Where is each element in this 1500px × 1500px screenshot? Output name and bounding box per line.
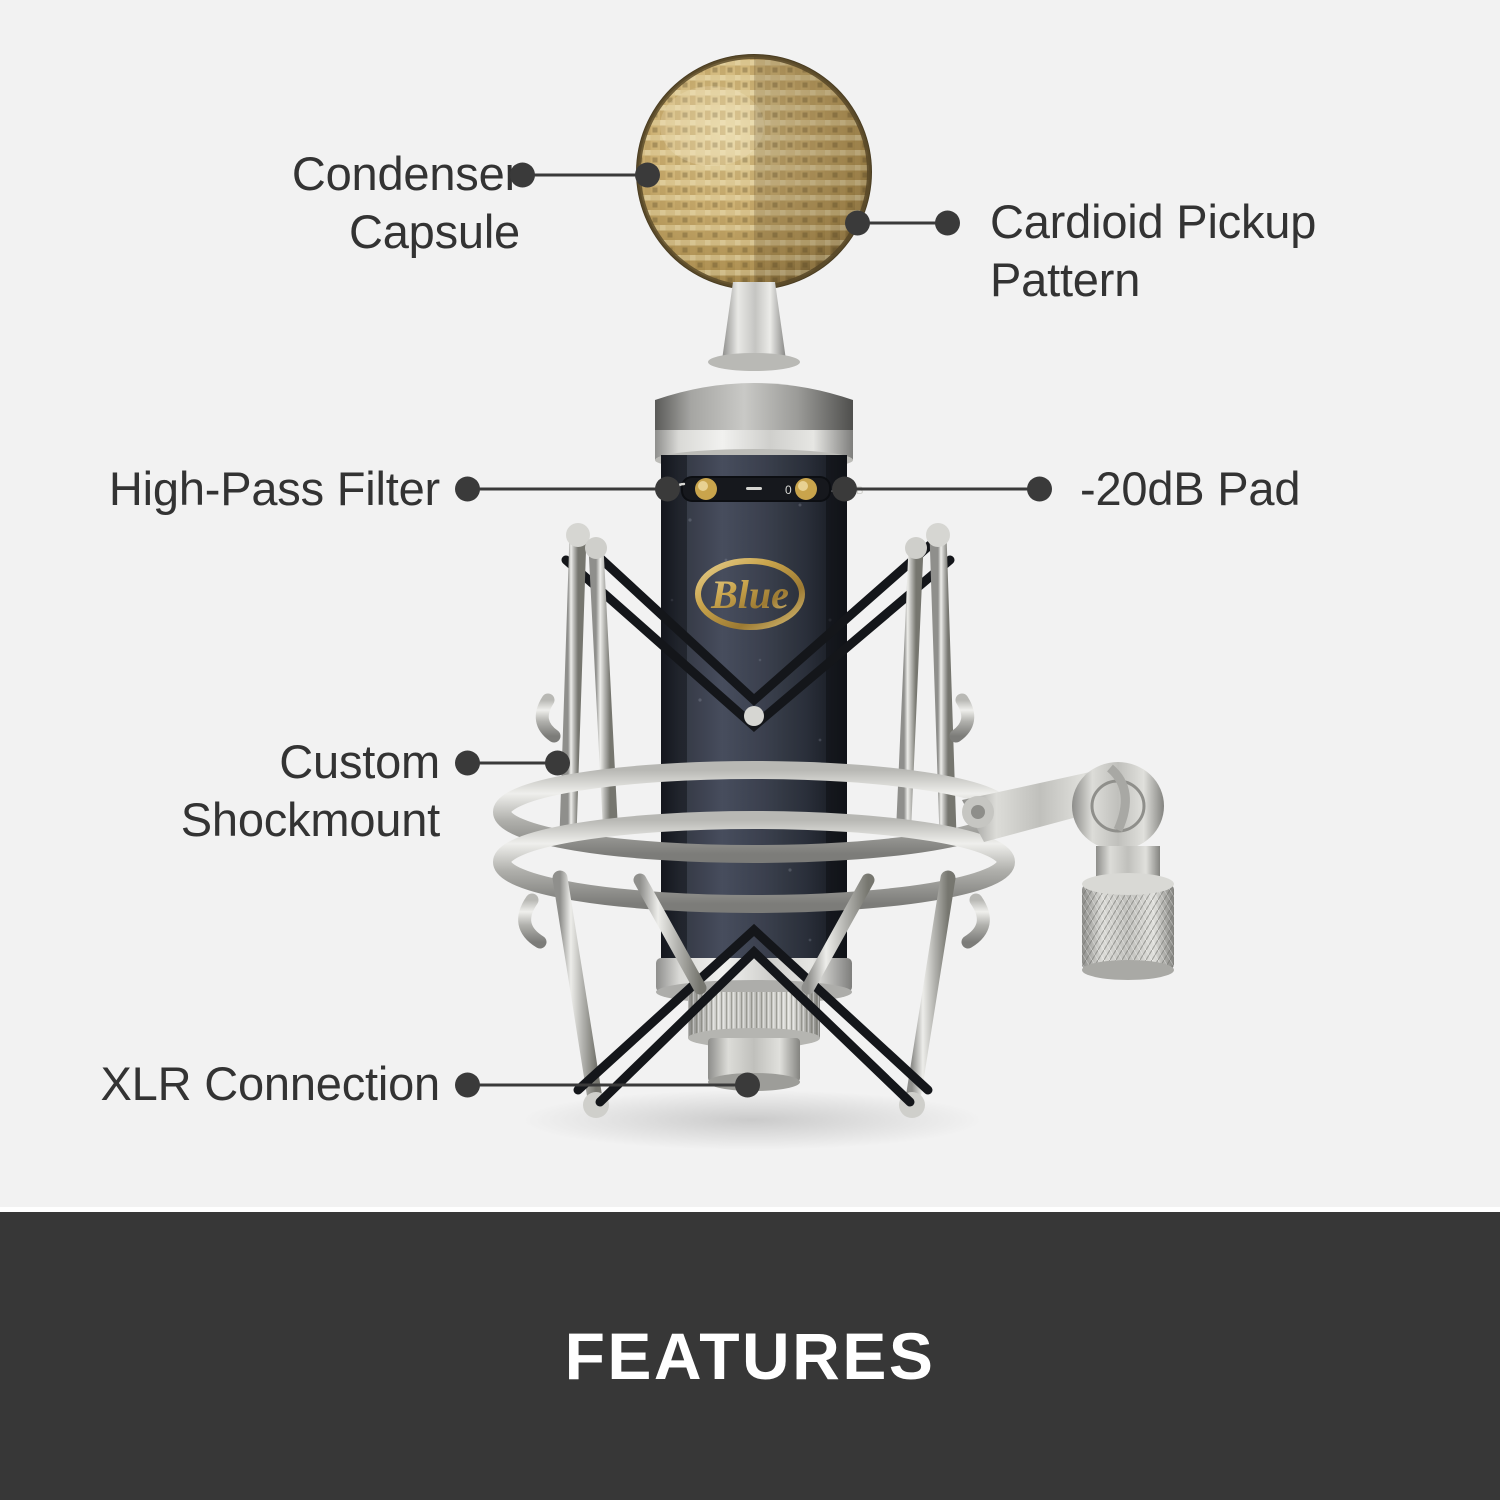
callout-line xyxy=(520,174,650,177)
callout-dot-label-end xyxy=(935,211,960,236)
mic-top-collar xyxy=(655,383,853,471)
blue-logo-badge: Blue xyxy=(698,561,802,627)
diagram-panel: 0 -20 dB Blue xyxy=(0,0,1500,1207)
features-banner-title: FEATURES xyxy=(565,1318,936,1394)
features-banner: FEATURES xyxy=(0,1212,1500,1500)
condenser-capsule-graphic xyxy=(636,54,872,290)
callout-connector-pad-20db xyxy=(832,476,1052,502)
callout-connector-high-pass-filter xyxy=(455,476,680,502)
callout-label-cardioid-pickup-pattern: Cardioid Pickup Pattern xyxy=(990,193,1420,309)
mic-body xyxy=(661,455,847,965)
callout-connector-condenser-capsule xyxy=(510,162,660,188)
callout-dot-label-end xyxy=(1027,477,1052,502)
svg-text:0: 0 xyxy=(785,483,792,497)
custom-shockmount xyxy=(502,523,1006,1118)
callout-label-xlr-connection: XLR Connection xyxy=(10,1055,440,1113)
callout-line xyxy=(465,1084,750,1087)
callout-label-condenser-capsule: Condenser Capsule xyxy=(150,145,520,261)
callout-dot-target-end xyxy=(545,751,570,776)
svg-text:Blue: Blue xyxy=(710,572,789,617)
callout-dot-target-end xyxy=(735,1073,760,1098)
mount-arm-assembly xyxy=(962,762,1174,980)
callout-connector-cardioid-pickup-pattern xyxy=(845,210,960,236)
callout-dot-target-end xyxy=(635,163,660,188)
callout-line xyxy=(465,488,670,491)
capsule-stem xyxy=(708,282,800,371)
callout-label-high-pass-filter: High-Pass Filter xyxy=(30,460,440,518)
callout-dot-target-end xyxy=(655,477,680,502)
callout-connector-custom-shockmount xyxy=(455,750,570,776)
product-feature-diagram: 0 -20 dB Blue xyxy=(0,0,1500,1500)
callout-line xyxy=(842,488,1042,491)
callout-label-custom-shockmount: Custom Shockmount xyxy=(60,733,440,849)
callout-label-pad-20db: -20dB Pad xyxy=(1080,460,1480,518)
callout-connector-xlr-connection xyxy=(455,1072,760,1098)
